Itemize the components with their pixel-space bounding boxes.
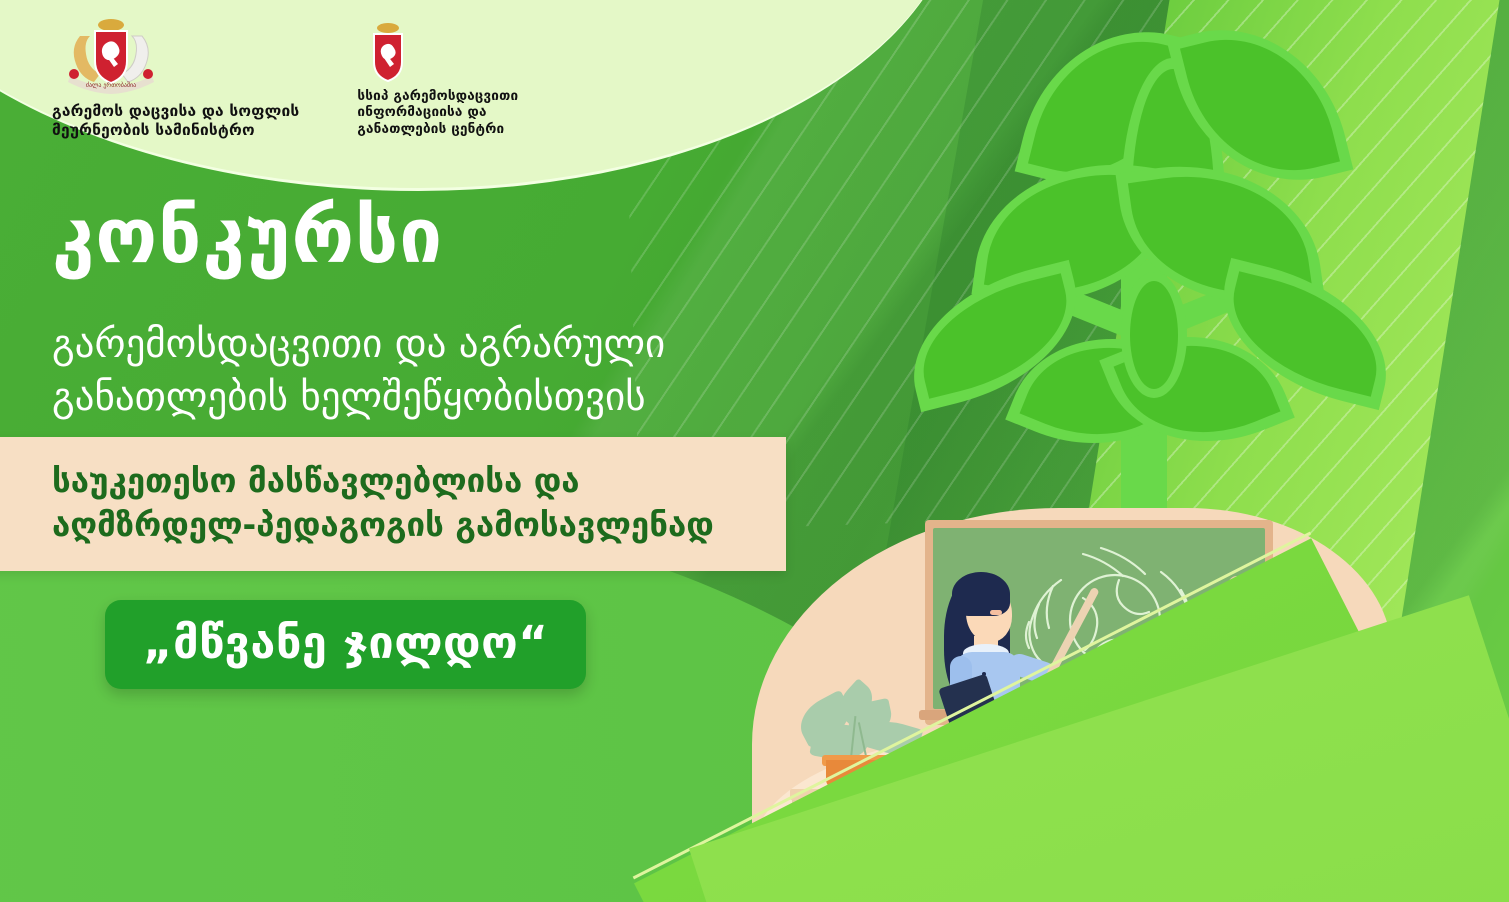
award-purpose-banner: საუკეთესო მასწავლებლისა და აღმზრდელ-პედა… xyxy=(0,437,786,571)
center-logo-block: სსიპ გარემოსდაცვითი ინფორმაციისა და განა… xyxy=(357,22,518,137)
stylized-tree xyxy=(885,10,1425,550)
page-subtitle: გარემოსდაცვითი და აგრარული განათლების ხე… xyxy=(52,318,665,424)
tree-petal-center xyxy=(1121,272,1187,398)
teacher-lips xyxy=(990,610,1002,615)
page-title: კონკურსი xyxy=(52,198,443,274)
georgia-coat-of-arms: ძალა ერთობაშია xyxy=(52,18,170,94)
georgia-state-shield xyxy=(357,22,419,84)
award-purpose-text: საუკეთესო მასწავლებლისა და აღმზრდელ-პედა… xyxy=(52,459,786,547)
poster-canvas: ძალა ერთობაშია გარემოს დაცვისა და სოფლის… xyxy=(0,0,1509,902)
svg-text:ძალა ერთობაშია: ძალა ერთობაშია xyxy=(86,82,136,89)
center-name: სსიპ გარემოსდაცვითი ინფორმაციისა და განა… xyxy=(357,88,518,137)
header-logos: ძალა ერთობაშია გარემოს დაცვისა და სოფლის… xyxy=(52,18,518,140)
award-name-badge: „მწვანე ჯილდო“ xyxy=(105,600,586,689)
teacher-hair-front xyxy=(952,572,1010,616)
ministry-name: გარემოს დაცვისა და სოფლის მეურნეობის სამ… xyxy=(52,102,299,140)
ministry-logo-block: ძალა ერთობაშია გარემოს დაცვისა და სოფლის… xyxy=(52,18,299,140)
